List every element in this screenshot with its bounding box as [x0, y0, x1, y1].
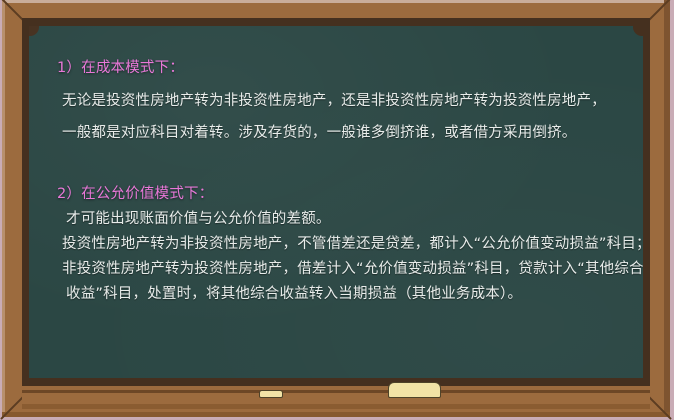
chalkboard-surface: 1）在成本模式下： 无论是投资性房地产转为非投资性房地产，还是非投资性房地产转为…	[29, 26, 643, 378]
section-2-line-3: 非投资性房地产转为投资性房地产，借差计入“允价值变动损益”科目，贷款计入“其他综…	[62, 262, 643, 277]
section-1-line-2: 一般都是对应科目对着转。涉及存货的，一般谁多倒挤谁，或者借方采用倒挤。	[62, 126, 577, 141]
chalk-tray-face	[22, 404, 650, 409]
section-2-line-4: 收益”科目，处置时，将其他综合收益转入当期损益（其他业务成本）。	[66, 287, 522, 302]
frame-left-highlight	[2, 0, 5, 417]
section-2-heading: 2）在公允价值模式下：	[57, 187, 213, 202]
section-2-line-1: 才可能出现账面价值与公允价值的差额。	[66, 212, 331, 227]
chalk-stick-icon	[259, 390, 283, 398]
section-1-heading: 1）在成本模式下：	[57, 61, 184, 76]
blackboard-scene: 1）在成本模式下： 无论是投资性房地产转为非投资性房地产，还是非投资性房地产转为…	[0, 0, 674, 419]
section-2-line-2: 投资性房地产转为非投资性房地产，不管借差还是贷差，都计入“公允价值变动损益”科目…	[62, 237, 643, 252]
section-1-line-1: 无论是投资性房地产转为非投资性房地产，还是非投资性房地产转为投资性房地产，	[62, 94, 606, 109]
chalk-tray	[22, 390, 650, 409]
frame-bottom-shadow	[2, 412, 670, 417]
frame-top-highlight	[2, 0, 670, 3]
frame-right-shadow	[664, 0, 670, 417]
chalkboard-wooden-frame: 1）在成本模式下： 无论是投资性房地产转为非投资性房地产，还是非投资性房地产转为…	[2, 0, 670, 417]
chalkboard-text-content: 1）在成本模式下： 无论是投资性房地产转为非投资性房地产，还是非投资性房地产转为…	[29, 26, 643, 378]
chalk-eraser-icon	[388, 382, 441, 398]
